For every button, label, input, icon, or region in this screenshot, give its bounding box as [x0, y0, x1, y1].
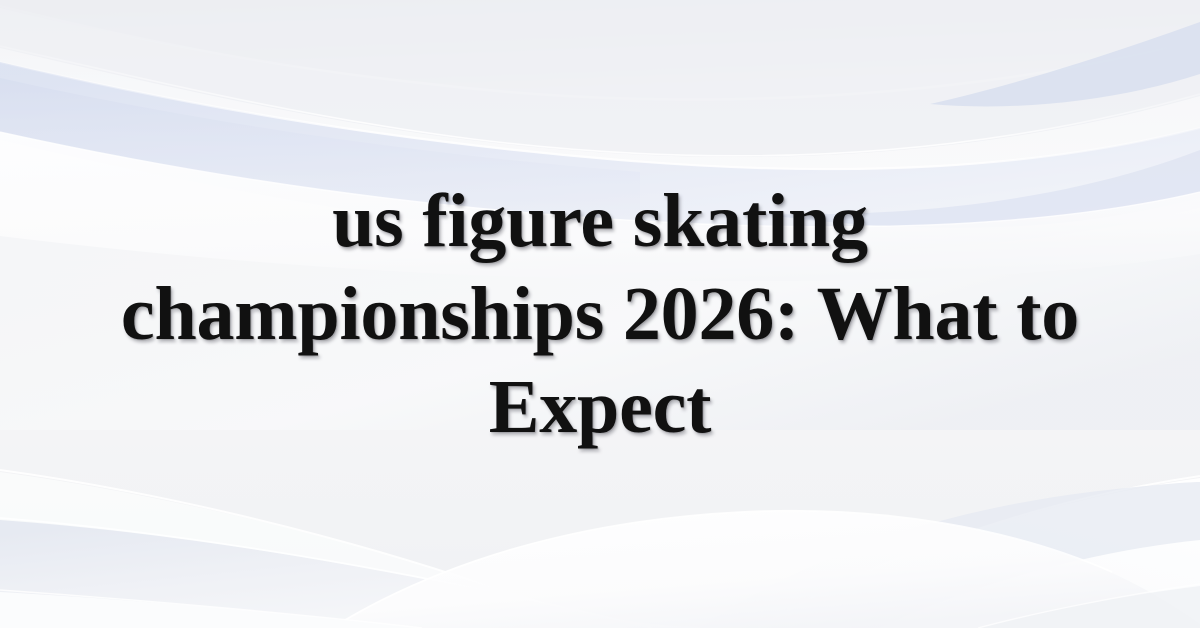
- page-title: us figure skating championships 2026: Wh…: [95, 175, 1105, 454]
- og-share-card: us figure skating championships 2026: Wh…: [0, 0, 1200, 628]
- headline-container: us figure skating championships 2026: Wh…: [0, 0, 1200, 628]
